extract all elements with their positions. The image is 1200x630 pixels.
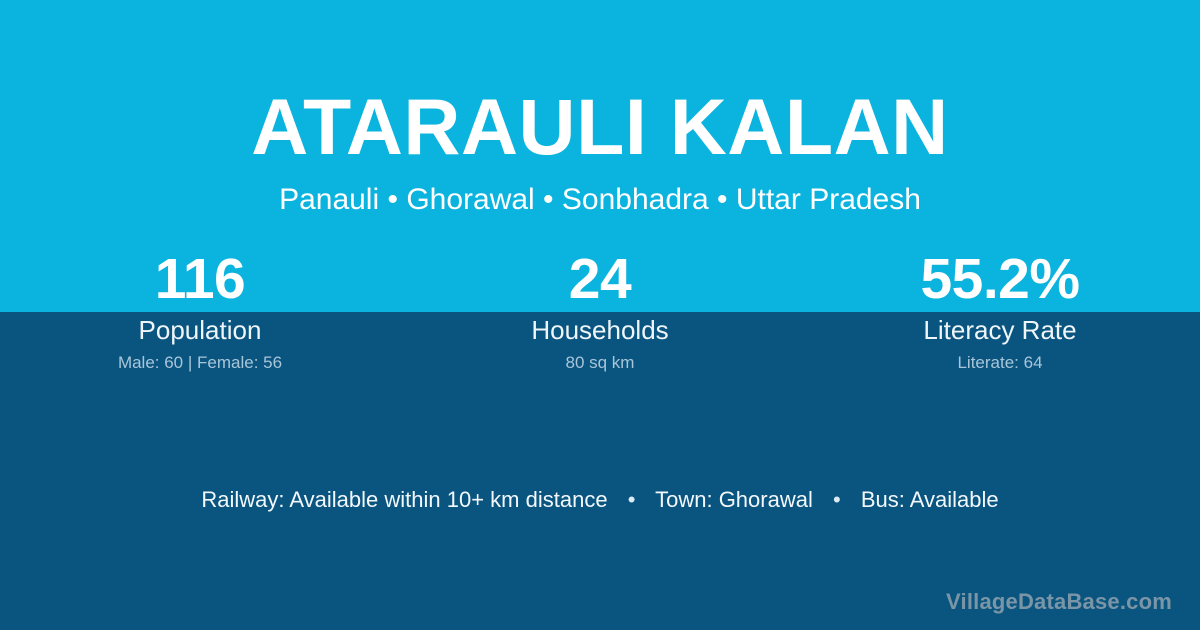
stat-households: 24 Households 80 sq km bbox=[400, 248, 800, 374]
stat-sub: Literate: 64 bbox=[800, 352, 1200, 374]
bullet-separator-icon: • bbox=[819, 485, 855, 515]
stat-value: 55.2% bbox=[800, 248, 1200, 310]
stat-label: Literacy Rate bbox=[800, 314, 1200, 346]
site-watermark: VillageDataBase.com bbox=[946, 588, 1172, 616]
stat-literacy-rate: 55.2% Literacy Rate Literate: 64 bbox=[800, 248, 1200, 374]
stat-value: 116 bbox=[0, 248, 400, 310]
bus-info: Bus: Available bbox=[861, 487, 999, 512]
stat-sub: 80 sq km bbox=[400, 352, 800, 374]
village-title: ATARAULI KALAN bbox=[0, 84, 1200, 170]
location-breadcrumb: Panauli • Ghorawal • Sonbhadra • Uttar P… bbox=[0, 180, 1200, 220]
railway-info: Railway: Available within 10+ km distanc… bbox=[201, 487, 607, 512]
stat-value: 24 bbox=[400, 248, 800, 310]
town-info: Town: Ghorawal bbox=[655, 487, 813, 512]
bullet-separator-icon: • bbox=[614, 485, 650, 515]
stat-label: Population bbox=[0, 314, 400, 346]
stat-population: 116 Population Male: 60 | Female: 56 bbox=[0, 248, 400, 374]
stat-sub: Male: 60 | Female: 56 bbox=[0, 352, 400, 374]
stats-row: 116 Population Male: 60 | Female: 56 24 … bbox=[0, 248, 1200, 374]
stat-label: Households bbox=[400, 314, 800, 346]
card-content: ATARAULI KALAN Panauli • Ghorawal • Sonb… bbox=[0, 0, 1200, 630]
village-info-card: ATARAULI KALAN Panauli • Ghorawal • Sonb… bbox=[0, 0, 1200, 630]
amenities-info-line: Railway: Available within 10+ km distanc… bbox=[0, 485, 1200, 515]
